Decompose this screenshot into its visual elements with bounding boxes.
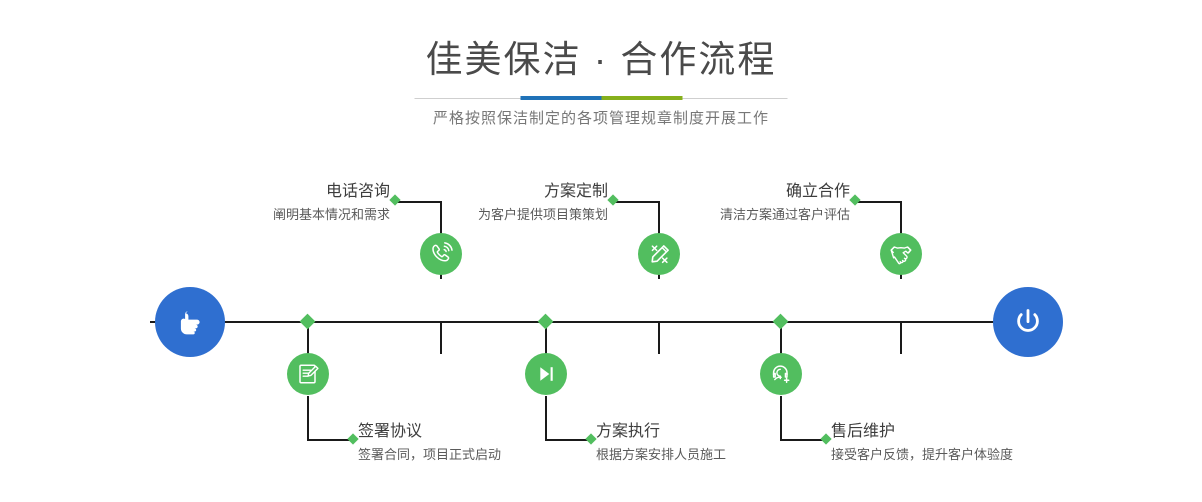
step-desc: 清洁方案通过客户评估 bbox=[630, 205, 850, 225]
flow-start-node[interactable] bbox=[155, 287, 225, 357]
divider-segment-blue bbox=[520, 96, 601, 100]
node-circle-step-5[interactable] bbox=[880, 233, 922, 275]
sign-document-icon bbox=[296, 362, 320, 386]
step-title: 电话咨询 bbox=[170, 182, 390, 202]
flow-end-node[interactable] bbox=[993, 287, 1063, 357]
title-divider bbox=[415, 96, 788, 100]
step-label-step-1: 电话咨询 阐明基本情况和需求 bbox=[170, 182, 390, 225]
connector-horizontal-step-2 bbox=[307, 439, 352, 441]
step-label-step-4: 方案执行 根据方案安排人员施工 bbox=[596, 422, 836, 465]
divider-rule-left bbox=[415, 98, 521, 99]
process-flow-diagram: 电话咨询 阐明基本情况和需求 签署协议 签署合同，项目正式启动 bbox=[0, 150, 1202, 502]
step-title: 方案执行 bbox=[596, 422, 836, 442]
step-title: 方案定制 bbox=[388, 182, 608, 202]
connector-vertical-step-2-lower bbox=[307, 396, 309, 440]
step-label-step-6: 售后维护 接受客户反馈，提升客户体验度 bbox=[831, 422, 1091, 465]
connector-vertical-step-3-lower bbox=[658, 322, 660, 354]
divider-rule-right bbox=[682, 98, 788, 99]
step-label-step-5: 确立合作 清洁方案通过客户评估 bbox=[630, 182, 850, 225]
divider-segment-green bbox=[601, 96, 682, 100]
node-circle-step-4[interactable] bbox=[525, 353, 567, 395]
step-desc: 根据方案安排人员施工 bbox=[596, 445, 836, 465]
power-icon bbox=[1009, 303, 1047, 341]
step-label-step-3: 方案定制 为客户提供项目策策划 bbox=[388, 182, 608, 225]
step-desc: 为客户提供项目策策划 bbox=[388, 205, 608, 225]
label-marker-step-3 bbox=[607, 194, 618, 205]
connector-horizontal-step-5 bbox=[856, 201, 901, 203]
phone-consult-icon bbox=[428, 241, 454, 267]
pencil-plan-icon bbox=[647, 242, 672, 267]
handshake-icon bbox=[888, 241, 914, 267]
step-desc: 签署合同，项目正式启动 bbox=[358, 445, 598, 465]
step-title: 售后维护 bbox=[831, 422, 1091, 442]
pointing-hand-icon bbox=[172, 304, 208, 340]
connector-vertical-step-5-lower bbox=[900, 322, 902, 354]
page-subtitle: 严格按照保洁制定的各项管理规章制度开展工作 bbox=[0, 106, 1202, 132]
node-circle-step-2[interactable] bbox=[287, 353, 329, 395]
step-title: 签署协议 bbox=[358, 422, 598, 442]
timeline-axis bbox=[150, 321, 1052, 323]
label-marker-step-5 bbox=[849, 194, 860, 205]
page-title: 佳美保洁 · 合作流程 bbox=[0, 38, 1202, 82]
step-desc: 接受客户反馈，提升客户体验度 bbox=[831, 445, 1091, 465]
play-execute-icon bbox=[534, 362, 558, 386]
timeline-marker-step-6 bbox=[773, 314, 789, 330]
step-title: 确立合作 bbox=[630, 182, 850, 202]
node-circle-step-6[interactable] bbox=[760, 353, 802, 395]
step-label-step-2: 签署协议 签署合同，项目正式启动 bbox=[358, 422, 598, 465]
node-circle-step-1[interactable] bbox=[420, 233, 462, 275]
customer-service-icon bbox=[769, 362, 793, 386]
page-header: 佳美保洁 · 合作流程 严格按照保洁制定的各项管理规章制度开展工作 bbox=[0, 0, 1202, 150]
label-marker-step-2 bbox=[347, 433, 358, 444]
node-circle-step-3[interactable] bbox=[638, 233, 680, 275]
connector-vertical-step-1-lower bbox=[440, 322, 442, 354]
step-desc: 阐明基本情况和需求 bbox=[170, 205, 390, 225]
timeline-marker-step-4 bbox=[538, 314, 554, 330]
timeline-marker-step-2 bbox=[300, 314, 316, 330]
